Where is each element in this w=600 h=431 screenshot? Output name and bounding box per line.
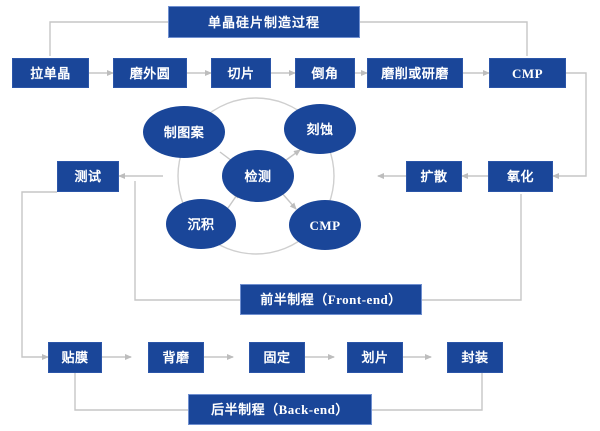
node-pull-crystal-label: 拉单晶: [30, 67, 71, 80]
wire-title-to-pullcrystal: [50, 22, 168, 56]
node-patterning[interactable]: 制图案: [143, 106, 225, 158]
node-back-grinding-label: 背磨: [162, 351, 189, 364]
banner-title-label: 单晶硅片制造过程: [208, 16, 320, 29]
wire-cmp-to-oxidation: [553, 73, 586, 176]
node-lapping-label: 磨削或研磨: [381, 67, 449, 80]
node-chamfer-label: 倒角: [311, 67, 338, 80]
wire-test-to-film: [22, 192, 57, 357]
node-film-lamination[interactable]: 贴膜: [48, 342, 102, 373]
wire-frontend-right: [422, 194, 521, 300]
node-pull-crystal[interactable]: 拉单晶: [12, 58, 89, 88]
node-slicing-label: 切片: [227, 67, 254, 80]
node-cmp-wafer[interactable]: CMP: [489, 58, 566, 88]
banner-back-end-label: 后半制程（Back-end）: [211, 403, 349, 416]
node-back-grinding[interactable]: 背磨: [148, 342, 204, 373]
node-diffusion-label: 扩散: [420, 170, 447, 183]
node-inspection-label: 检测: [244, 170, 271, 183]
node-oxidation[interactable]: 氧化: [488, 161, 553, 192]
node-patterning-label: 制图案: [164, 126, 205, 139]
node-cmp-cycle[interactable]: CMP: [289, 200, 361, 250]
node-inspection[interactable]: 检测: [222, 150, 294, 202]
node-grind-outer[interactable]: 磨外圆: [113, 58, 187, 88]
wire-title-to-cmp: [360, 22, 527, 56]
node-packaging-label: 封装: [461, 351, 488, 364]
node-deposition[interactable]: 沉积: [166, 199, 236, 249]
node-dicing-label: 划片: [361, 351, 388, 364]
node-deposition-label: 沉积: [187, 218, 214, 231]
node-etching[interactable]: 刻蚀: [284, 104, 356, 154]
wire-backend-right: [372, 373, 482, 410]
node-dicing[interactable]: 划片: [347, 342, 403, 373]
node-etching-label: 刻蚀: [306, 123, 333, 136]
flowchart-diagram: 单晶硅片制造过程 前半制程（Front-end） 后半制程（Back-end） …: [0, 0, 600, 431]
wire-inspection-to-cmp: [281, 192, 296, 209]
node-chamfer[interactable]: 倒角: [295, 58, 355, 88]
banner-back-end: 后半制程（Back-end）: [188, 394, 372, 425]
node-cmp-wafer-label: CMP: [512, 67, 543, 80]
node-grind-outer-label: 磨外圆: [130, 67, 171, 80]
node-cmp-cycle-label: CMP: [309, 219, 340, 232]
banner-front-end: 前半制程（Front-end）: [240, 284, 422, 315]
node-mounting[interactable]: 固定: [249, 342, 305, 373]
wire-backend-left: [75, 373, 188, 410]
banner-front-end-label: 前半制程（Front-end）: [260, 293, 402, 306]
node-slicing[interactable]: 切片: [211, 58, 271, 88]
node-test-label: 测试: [74, 170, 101, 183]
node-diffusion[interactable]: 扩散: [406, 161, 462, 192]
node-lapping[interactable]: 磨削或研磨: [367, 58, 463, 88]
node-oxidation-label: 氧化: [507, 170, 534, 183]
banner-title: 单晶硅片制造过程: [168, 6, 360, 38]
node-mounting-label: 固定: [263, 351, 290, 364]
node-test[interactable]: 测试: [57, 161, 119, 192]
node-film-lamination-label: 贴膜: [61, 351, 88, 364]
node-packaging[interactable]: 封装: [447, 342, 503, 373]
